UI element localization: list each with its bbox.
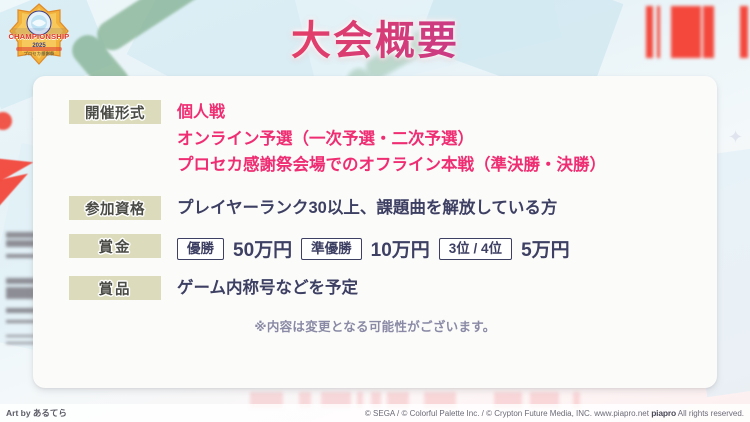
overview-row-prize-money: 賞金 優勝 50万円 準優勝 10万円 3位 / 4位 5万円 (33, 234, 717, 262)
row-label-format: 開催形式 (69, 100, 161, 124)
format-line-2: オンライン予選（一次予選・二次予選） (177, 126, 717, 152)
row-content-format: 個人戦 オンライン予選（一次予選・二次予選） プロセカ感謝祭会場でのオフライン本… (177, 100, 717, 178)
row-content-prize-goods: ゲーム内称号などを予定 (177, 276, 717, 300)
page-title: 大会概要 (0, 8, 750, 66)
prize-amount-1st: 50万円 (233, 235, 292, 262)
prize-list: 優勝 50万円 準優勝 10万円 3位 / 4位 5万円 (177, 235, 717, 262)
copyright-notice: © SEGA / © Colorful Palette Inc. / © Cry… (365, 408, 744, 418)
eligibility-line: プレイヤーランク30以上、課題曲を解放している方 (177, 196, 717, 220)
format-line-3: プロセカ感謝祭会場でのオフライン本戦（準決勝・決勝） (177, 152, 717, 178)
disclaimer-note: ※内容は変更となる可能性がございます。 (33, 316, 717, 335)
art-credit: Art by あるてら (6, 407, 67, 419)
red-dot-decoration (0, 112, 12, 130)
prize-rank-3rd-4th: 3位 / 4位 (439, 238, 512, 260)
row-label-eligibility: 参加資格 (69, 196, 161, 220)
footer-bar: Art by あるてら © SEGA / © Colorful Palette … (0, 404, 750, 422)
sparkle-icon: ✦ (728, 128, 743, 146)
overview-row-eligibility: 参加資格 プレイヤーランク30以上、課題曲を解放している方 (33, 196, 717, 220)
format-line-1: 個人戦 (177, 100, 717, 126)
overview-card: 開催形式 個人戦 オンライン予選（一次予選・二次予選） プロセカ感謝祭会場でのオ… (33, 76, 717, 388)
prize-rank-1st: 優勝 (177, 238, 224, 260)
piapro-logo: piapro (651, 408, 676, 418)
row-content-prize-money: 優勝 50万円 準優勝 10万円 3位 / 4位 5万円 (177, 234, 717, 262)
overview-row-prize-goods: 賞品 ゲーム内称号などを予定 (33, 276, 717, 300)
copyright-text-after: All rights reserved. (678, 409, 744, 418)
prize-goods-line: ゲーム内称号などを予定 (177, 276, 717, 300)
overview-rows: 開催形式 個人戦 オンライン予選（一次予選・二次予選） プロセカ感謝祭会場でのオ… (33, 76, 717, 335)
screenshot-root: ✦ ✦ ✦ (0, 0, 750, 422)
overview-row-format: 開催形式 個人戦 オンライン予選（一次予選・二次予選） プロセカ感謝祭会場でのオ… (33, 100, 717, 178)
barcode-icon (6, 232, 36, 344)
row-label-prize-money: 賞金 (69, 234, 161, 258)
copyright-text-before: © SEGA / © Colorful Palette Inc. / © Cry… (365, 409, 649, 418)
row-label-prize-goods: 賞品 (69, 276, 161, 300)
prize-amount-2nd: 10万円 (371, 235, 430, 262)
prize-amount-3rd-4th: 5万円 (521, 235, 570, 262)
row-content-eligibility: プレイヤーランク30以上、課題曲を解放している方 (177, 196, 717, 220)
prize-rank-2nd: 準優勝 (301, 238, 362, 260)
